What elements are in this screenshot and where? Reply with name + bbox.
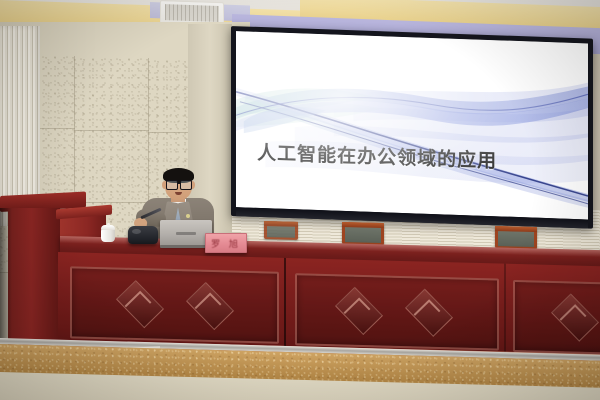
- name-placard: 罗 旭: [205, 233, 247, 253]
- conference-room-photo: 人工智能在办公领域的应用: [0, 0, 600, 400]
- camera-bag[interactable]: [128, 226, 158, 244]
- screen-display-area: 人工智能在办公领域的应用: [236, 31, 588, 219]
- teacup[interactable]: [101, 225, 115, 242]
- desk-seam-2: [504, 264, 506, 358]
- lectern-body: [8, 208, 60, 358]
- name-placard-text: 罗 旭: [211, 237, 241, 250]
- led-display-screen[interactable]: 人工智能在办公领域的应用: [231, 26, 593, 229]
- desk-panel-1: [70, 266, 279, 343]
- chair-3[interactable]: [264, 221, 298, 240]
- desk-seam-1: [284, 258, 286, 352]
- glasses-icon: [165, 180, 192, 188]
- presenter-lapel-pin: [186, 214, 190, 218]
- slide-wave-graphic: [236, 31, 588, 219]
- desk-panel-3: [513, 280, 600, 355]
- chair-1[interactable]: [342, 222, 384, 245]
- chair-2[interactable]: [495, 226, 537, 249]
- lectern-shadow: [0, 208, 12, 358]
- desk-panel-2: [295, 273, 499, 350]
